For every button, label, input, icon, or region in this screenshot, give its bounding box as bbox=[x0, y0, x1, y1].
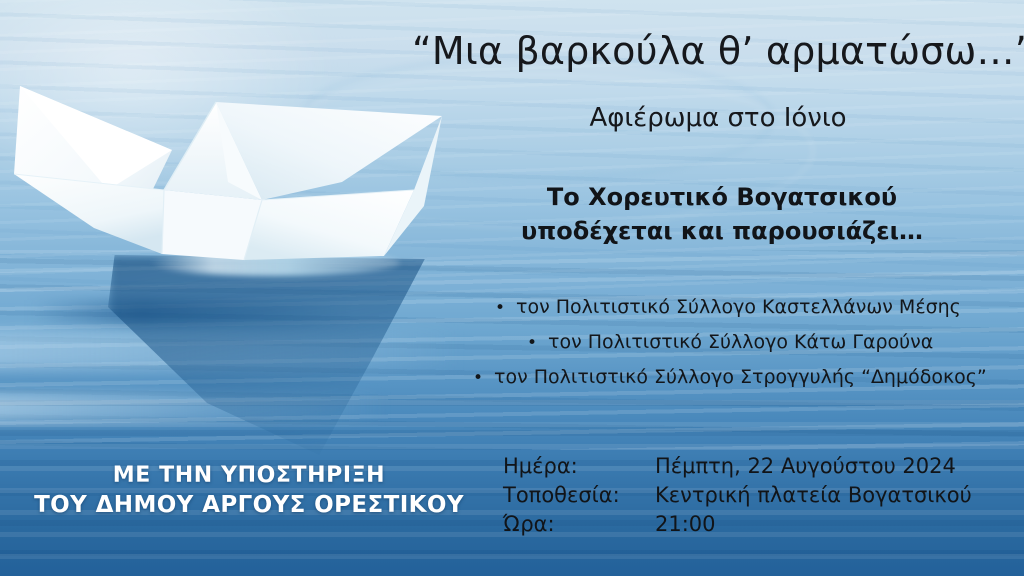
bullet-icon: • bbox=[522, 335, 542, 352]
supporter-credit: ΜΕ ΤΗΝ ΥΠΟΣΤΗΡΙΞΗ ΤΟΥ ΔΗΜΟΥ ΑΡΓΟΥΣ ΟΡΕΣΤ… bbox=[14, 461, 484, 520]
group-label: τον Πολιτιστικό Σύλλογο Κάτω Γαρούνα bbox=[548, 331, 933, 353]
bullet-icon: • bbox=[490, 300, 510, 317]
group-label: τον Πολιτιστικό Σύλλογο Καστελλάνων Μέση… bbox=[516, 296, 961, 318]
detail-value: Κεντρική πλατεία Βογατσικού bbox=[655, 481, 972, 510]
event-poster: “Μια βαρκούλα θ’ αρματώσω…” Αφιέρωμα στο… bbox=[0, 0, 1024, 576]
poster-subtitle: Αφιέρωμα στο Ιόνιο bbox=[412, 103, 1024, 134]
detail-label: Τοποθεσία: bbox=[503, 481, 655, 510]
list-item: • τον Πολιτιστικό Σύλλογο Καστελλάνων Μέ… bbox=[440, 298, 1024, 317]
supporter-credit-line-1: ΜΕ ΤΗΝ ΥΠΟΣΤΗΡΙΞΗ bbox=[14, 461, 484, 490]
detail-label: Ημέρα: bbox=[503, 452, 655, 481]
detail-row-location: Τοποθεσία: Κεντρική πλατεία Βογατσικού bbox=[503, 481, 972, 510]
detail-value: Πέμπτη, 22 Αυγούστου 2024 bbox=[655, 452, 972, 481]
participating-groups-list: • τον Πολιτιστικό Σύλλογο Καστελλάνων Μέ… bbox=[440, 298, 1024, 403]
supporter-credit-line-2: ΤΟΥ ΔΗΜΟΥ ΑΡΓΟΥΣ ΟΡΕΣΤΙΚΟΥ bbox=[14, 490, 484, 520]
water-dark-ripple bbox=[30, 300, 348, 326]
boat-shadow bbox=[108, 255, 438, 455]
detail-row-day: Ημέρα: Πέμπτη, 22 Αυγούστου 2024 bbox=[503, 452, 972, 481]
poster-title: “Μια βαρκούλα θ’ αρματώσω…” bbox=[412, 30, 1024, 74]
list-item: • τον Πολιτιστικό Σύλλογο Κάτω Γαρούνα bbox=[440, 333, 1024, 352]
group-label: τον Πολιτιστικό Σύλλογο Στρογγυλής “Δημό… bbox=[494, 366, 987, 388]
water-bright-ripple-lower bbox=[0, 392, 389, 422]
poster-lead: Το Χορευτικό Βογατσικού υποδέχεται και π… bbox=[420, 180, 1024, 248]
list-item: • τον Πολιτιστικό Σύλλογο Στρογγυλής “Δη… bbox=[440, 368, 1024, 387]
poster-lead-line-2: υποδέχεται και παρουσιάζει… bbox=[420, 214, 1024, 248]
bullet-icon: • bbox=[468, 370, 488, 387]
poster-lead-line-1: Το Χορευτικό Βογατσικού bbox=[420, 180, 1024, 214]
detail-row-time: Ώρα: 21:00 bbox=[503, 510, 972, 539]
detail-value: 21:00 bbox=[655, 510, 972, 539]
detail-label: Ώρα: bbox=[503, 510, 655, 539]
water-bright-ripple-upper bbox=[0, 330, 461, 370]
paper-boat-icon bbox=[12, 78, 472, 278]
event-details: Ημέρα: Πέμπτη, 22 Αυγούστου 2024 Τοποθεσ… bbox=[503, 452, 972, 539]
